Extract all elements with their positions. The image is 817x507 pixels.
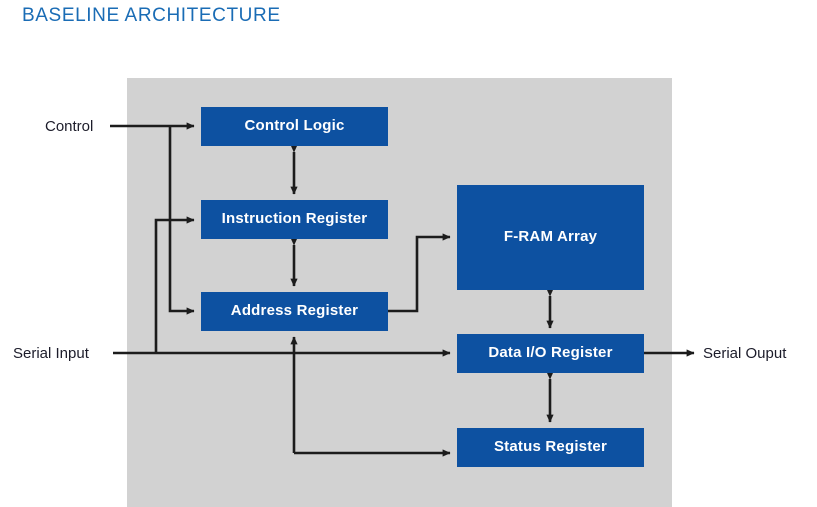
block-instruction-register-label: Instruction Register: [222, 211, 368, 228]
label-serial-input: Serial Input: [13, 345, 89, 362]
label-control: Control: [45, 118, 93, 135]
block-data-io-register[interactable]: Data I/O Register: [457, 334, 644, 373]
block-address-register-label: Address Register: [231, 303, 358, 320]
block-instruction-register[interactable]: Instruction Register: [201, 200, 388, 239]
block-address-register[interactable]: Address Register: [201, 292, 388, 331]
block-fram-array[interactable]: F-RAM Array: [457, 185, 644, 290]
block-data-io-register-label: Data I/O Register: [488, 345, 612, 362]
diagram-page: BASELINE ARCHITECTURE: [0, 0, 817, 507]
block-control-logic-label: Control Logic: [244, 118, 344, 135]
page-title: BASELINE ARCHITECTURE: [22, 5, 281, 27]
block-control-logic[interactable]: Control Logic: [201, 107, 388, 146]
label-serial-output: Serial Ouput: [703, 345, 786, 362]
block-fram-array-label: F-RAM Array: [504, 229, 597, 246]
block-status-register[interactable]: Status Register: [457, 428, 644, 467]
block-status-register-label: Status Register: [494, 439, 607, 456]
